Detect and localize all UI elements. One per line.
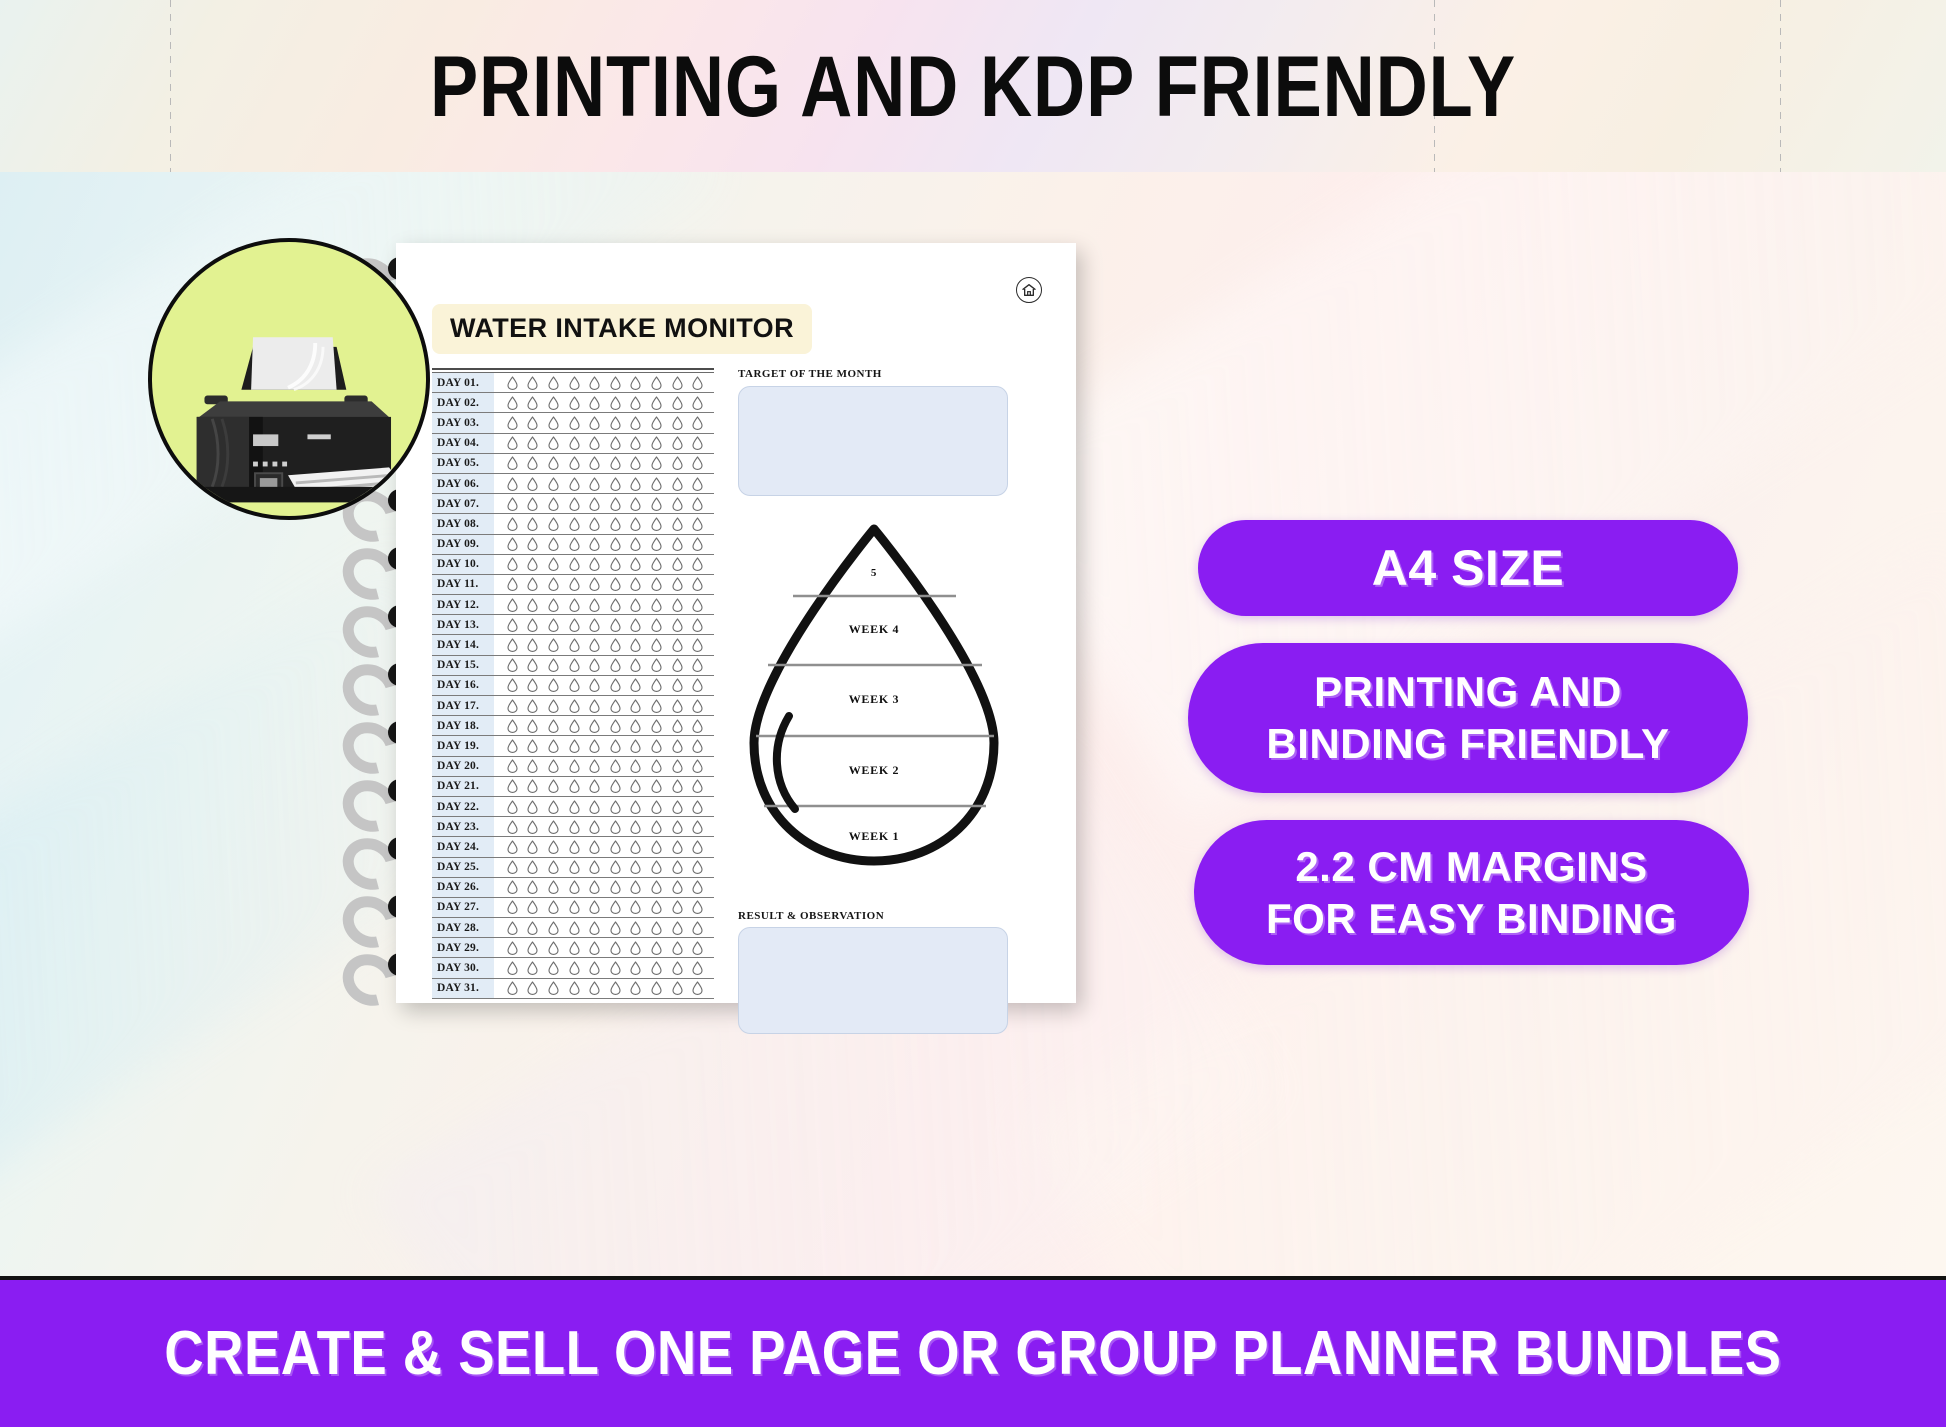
water-drop-checkbox-icon[interactable] (630, 517, 641, 531)
water-drop-checkbox-icon[interactable] (651, 537, 662, 551)
water-drop-checkbox-icon[interactable] (569, 860, 580, 874)
water-drop-checkbox-icon[interactable] (569, 436, 580, 450)
water-drop-checkbox-icon[interactable] (610, 658, 621, 672)
water-drop-checkbox-icon[interactable] (589, 820, 600, 834)
water-drop-checkbox-icon[interactable] (507, 900, 518, 914)
water-drop-checkbox-icon[interactable] (651, 497, 662, 511)
water-drop-checkbox-icon[interactable] (692, 477, 703, 491)
water-drop-checkbox-icon[interactable] (507, 376, 518, 390)
water-drop-checkbox-icon[interactable] (630, 376, 641, 390)
feature-pill-printing-binding[interactable]: PRINTING AND BINDING FRIENDLY (1188, 643, 1748, 793)
water-drop-checkbox-icon[interactable] (527, 456, 538, 470)
water-drop-checkbox-icon[interactable] (672, 880, 683, 894)
water-drop-checkbox-icon[interactable] (589, 436, 600, 450)
water-drop-checkbox-icon[interactable] (589, 477, 600, 491)
water-drop-checkbox-icon[interactable] (692, 921, 703, 935)
water-drop-checkbox-icon[interactable] (527, 921, 538, 935)
water-drop-checkbox-icon[interactable] (692, 800, 703, 814)
water-drop-checkbox-icon[interactable] (651, 618, 662, 632)
water-drop-checkbox-icon[interactable] (692, 739, 703, 753)
water-drop-checkbox-icon[interactable] (548, 376, 559, 390)
water-drop-checkbox-icon[interactable] (651, 678, 662, 692)
water-drop-checkbox-icon[interactable] (569, 759, 580, 773)
water-drop-checkbox-icon[interactable] (630, 840, 641, 854)
water-drop-checkbox-icon[interactable] (569, 557, 580, 571)
water-drop-checkbox-icon[interactable] (569, 800, 580, 814)
water-drop-checkbox-icon[interactable] (527, 618, 538, 632)
water-drop-checkbox-icon[interactable] (527, 376, 538, 390)
water-drop-checkbox-icon[interactable] (507, 396, 518, 410)
water-drop-checkbox-icon[interactable] (548, 678, 559, 692)
water-drop-checkbox-icon[interactable] (589, 800, 600, 814)
water-drop-checkbox-icon[interactable] (548, 921, 559, 935)
water-drop-checkbox-icon[interactable] (630, 678, 641, 692)
water-drop-checkbox-icon[interactable] (630, 880, 641, 894)
water-drop-checkbox-icon[interactable] (672, 719, 683, 733)
water-drop-checkbox-icon[interactable] (527, 436, 538, 450)
water-drop-checkbox-icon[interactable] (672, 497, 683, 511)
water-drop-checkbox-icon[interactable] (672, 416, 683, 430)
water-drop-checkbox-icon[interactable] (527, 880, 538, 894)
water-drop-checkbox-icon[interactable] (692, 376, 703, 390)
water-drop-checkbox-icon[interactable] (507, 517, 518, 531)
water-drop-checkbox-icon[interactable] (589, 900, 600, 914)
water-drop-checkbox-icon[interactable] (610, 719, 621, 733)
water-drop-checkbox-icon[interactable] (651, 598, 662, 612)
water-drop-checkbox-icon[interactable] (527, 820, 538, 834)
water-drop-checkbox-icon[interactable] (672, 800, 683, 814)
water-drop-checkbox-icon[interactable] (610, 981, 621, 995)
water-drop-checkbox-icon[interactable] (651, 456, 662, 470)
water-drop-checkbox-icon[interactable] (527, 739, 538, 753)
water-drop-checkbox-icon[interactable] (569, 396, 580, 410)
water-drop-checkbox-icon[interactable] (527, 719, 538, 733)
water-drop-checkbox-icon[interactable] (610, 477, 621, 491)
water-drop-checkbox-icon[interactable] (589, 779, 600, 793)
water-drop-checkbox-icon[interactable] (548, 517, 559, 531)
water-drop-checkbox-icon[interactable] (692, 860, 703, 874)
water-drop-checkbox-icon[interactable] (569, 497, 580, 511)
water-drop-checkbox-icon[interactable] (630, 820, 641, 834)
water-drop-checkbox-icon[interactable] (569, 719, 580, 733)
water-drop-checkbox-icon[interactable] (630, 638, 641, 652)
water-drop-checkbox-icon[interactable] (507, 598, 518, 612)
water-drop-checkbox-icon[interactable] (589, 880, 600, 894)
water-drop-checkbox-icon[interactable] (672, 779, 683, 793)
water-drop-checkbox-icon[interactable] (630, 658, 641, 672)
water-drop-checkbox-icon[interactable] (672, 537, 683, 551)
water-drop-checkbox-icon[interactable] (527, 961, 538, 975)
water-drop-checkbox-icon[interactable] (610, 577, 621, 591)
water-drop-checkbox-icon[interactable] (630, 981, 641, 995)
water-drop-checkbox-icon[interactable] (692, 900, 703, 914)
water-drop-checkbox-icon[interactable] (692, 456, 703, 470)
water-drop-checkbox-icon[interactable] (548, 779, 559, 793)
water-drop-checkbox-icon[interactable] (630, 557, 641, 571)
water-drop-checkbox-icon[interactable] (569, 618, 580, 632)
water-drop-checkbox-icon[interactable] (548, 759, 559, 773)
water-drop-checkbox-icon[interactable] (672, 900, 683, 914)
water-drop-checkbox-icon[interactable] (589, 699, 600, 713)
water-drop-checkbox-icon[interactable] (507, 779, 518, 793)
water-drop-checkbox-icon[interactable] (610, 598, 621, 612)
water-drop-checkbox-icon[interactable] (610, 416, 621, 430)
water-drop-checkbox-icon[interactable] (589, 598, 600, 612)
water-drop-checkbox-icon[interactable] (527, 497, 538, 511)
water-drop-checkbox-icon[interactable] (692, 961, 703, 975)
water-drop-checkbox-icon[interactable] (569, 598, 580, 612)
water-drop-checkbox-icon[interactable] (589, 497, 600, 511)
water-drop-checkbox-icon[interactable] (569, 477, 580, 491)
water-drop-checkbox-icon[interactable] (610, 921, 621, 935)
water-drop-checkbox-icon[interactable] (589, 840, 600, 854)
water-drop-checkbox-icon[interactable] (507, 880, 518, 894)
water-drop-checkbox-icon[interactable] (651, 477, 662, 491)
water-drop-checkbox-icon[interactable] (569, 840, 580, 854)
water-drop-checkbox-icon[interactable] (672, 921, 683, 935)
target-of-month-input[interactable] (738, 386, 1008, 496)
water-drop-checkbox-icon[interactable] (507, 638, 518, 652)
water-drop-checkbox-icon[interactable] (507, 820, 518, 834)
water-drop-checkbox-icon[interactable] (610, 618, 621, 632)
water-drop-checkbox-icon[interactable] (569, 880, 580, 894)
water-drop-checkbox-icon[interactable] (692, 416, 703, 430)
water-drop-checkbox-icon[interactable] (692, 759, 703, 773)
home-icon[interactable] (1016, 277, 1042, 303)
water-drop-checkbox-icon[interactable] (527, 941, 538, 955)
water-drop-checkbox-icon[interactable] (589, 759, 600, 773)
water-drop-checkbox-icon[interactable] (610, 900, 621, 914)
water-drop-checkbox-icon[interactable] (651, 658, 662, 672)
water-drop-checkbox-icon[interactable] (548, 537, 559, 551)
water-drop-checkbox-icon[interactable] (672, 598, 683, 612)
water-drop-checkbox-icon[interactable] (630, 577, 641, 591)
water-drop-checkbox-icon[interactable] (651, 941, 662, 955)
water-drop-checkbox-icon[interactable] (589, 981, 600, 995)
water-drop-checkbox-icon[interactable] (630, 497, 641, 511)
water-drop-checkbox-icon[interactable] (630, 598, 641, 612)
water-drop-checkbox-icon[interactable] (610, 537, 621, 551)
water-drop-checkbox-icon[interactable] (589, 456, 600, 470)
water-drop-checkbox-icon[interactable] (548, 739, 559, 753)
water-drop-checkbox-icon[interactable] (527, 477, 538, 491)
water-drop-checkbox-icon[interactable] (610, 638, 621, 652)
water-drop-checkbox-icon[interactable] (610, 396, 621, 410)
water-drop-checkbox-icon[interactable] (589, 396, 600, 410)
water-drop-checkbox-icon[interactable] (527, 577, 538, 591)
water-drop-checkbox-icon[interactable] (507, 981, 518, 995)
water-drop-checkbox-icon[interactable] (507, 436, 518, 450)
water-drop-checkbox-icon[interactable] (548, 598, 559, 612)
water-drop-checkbox-icon[interactable] (692, 618, 703, 632)
water-drop-checkbox-icon[interactable] (610, 860, 621, 874)
water-drop-checkbox-icon[interactable] (548, 880, 559, 894)
water-drop-checkbox-icon[interactable] (548, 396, 559, 410)
water-drop-checkbox-icon[interactable] (527, 699, 538, 713)
water-drop-checkbox-icon[interactable] (527, 981, 538, 995)
water-drop-checkbox-icon[interactable] (527, 416, 538, 430)
water-drop-checkbox-icon[interactable] (527, 517, 538, 531)
water-drop-checkbox-icon[interactable] (651, 759, 662, 773)
water-drop-checkbox-icon[interactable] (610, 557, 621, 571)
water-drop-checkbox-icon[interactable] (610, 880, 621, 894)
water-drop-checkbox-icon[interactable] (507, 739, 518, 753)
water-drop-checkbox-icon[interactable] (589, 658, 600, 672)
water-drop-checkbox-icon[interactable] (507, 860, 518, 874)
water-drop-checkbox-icon[interactable] (692, 577, 703, 591)
water-drop-checkbox-icon[interactable] (672, 739, 683, 753)
water-drop-checkbox-icon[interactable] (672, 759, 683, 773)
water-drop-checkbox-icon[interactable] (672, 477, 683, 491)
water-drop-checkbox-icon[interactable] (651, 557, 662, 571)
water-drop-checkbox-icon[interactable] (692, 880, 703, 894)
water-drop-checkbox-icon[interactable] (507, 577, 518, 591)
water-drop-checkbox-icon[interactable] (610, 820, 621, 834)
water-drop-checkbox-icon[interactable] (589, 921, 600, 935)
water-drop-checkbox-icon[interactable] (630, 800, 641, 814)
water-drop-checkbox-icon[interactable] (651, 921, 662, 935)
water-drop-checkbox-icon[interactable] (651, 779, 662, 793)
water-drop-checkbox-icon[interactable] (672, 577, 683, 591)
water-drop-checkbox-icon[interactable] (548, 699, 559, 713)
water-drop-checkbox-icon[interactable] (548, 658, 559, 672)
water-drop-checkbox-icon[interactable] (630, 618, 641, 632)
water-drop-checkbox-icon[interactable] (507, 618, 518, 632)
water-drop-checkbox-icon[interactable] (672, 376, 683, 390)
water-drop-checkbox-icon[interactable] (692, 537, 703, 551)
water-drop-checkbox-icon[interactable] (507, 678, 518, 692)
water-drop-checkbox-icon[interactable] (527, 779, 538, 793)
water-drop-checkbox-icon[interactable] (507, 921, 518, 935)
water-drop-checkbox-icon[interactable] (569, 376, 580, 390)
water-drop-checkbox-icon[interactable] (527, 900, 538, 914)
water-drop-checkbox-icon[interactable] (651, 820, 662, 834)
water-drop-checkbox-icon[interactable] (527, 557, 538, 571)
water-drop-checkbox-icon[interactable] (651, 961, 662, 975)
water-drop-checkbox-icon[interactable] (692, 981, 703, 995)
water-drop-checkbox-icon[interactable] (507, 800, 518, 814)
water-drop-checkbox-icon[interactable] (692, 941, 703, 955)
water-drop-checkbox-icon[interactable] (692, 396, 703, 410)
water-drop-checkbox-icon[interactable] (548, 497, 559, 511)
water-drop-checkbox-icon[interactable] (651, 719, 662, 733)
water-drop-checkbox-icon[interactable] (610, 840, 621, 854)
water-drop-checkbox-icon[interactable] (651, 577, 662, 591)
result-observation-input[interactable] (738, 927, 1008, 1034)
water-drop-checkbox-icon[interactable] (527, 396, 538, 410)
feature-pill-margins[interactable]: 2.2 CM MARGINS FOR EASY BINDING (1194, 820, 1749, 965)
water-drop-checkbox-icon[interactable] (507, 497, 518, 511)
water-drop-checkbox-icon[interactable] (610, 739, 621, 753)
water-drop-checkbox-icon[interactable] (692, 779, 703, 793)
water-drop-checkbox-icon[interactable] (589, 941, 600, 955)
water-drop-checkbox-icon[interactable] (630, 396, 641, 410)
water-drop-checkbox-icon[interactable] (651, 880, 662, 894)
water-drop-checkbox-icon[interactable] (672, 941, 683, 955)
water-drop-checkbox-icon[interactable] (589, 618, 600, 632)
water-drop-checkbox-icon[interactable] (548, 860, 559, 874)
water-drop-checkbox-icon[interactable] (610, 376, 621, 390)
water-drop-checkbox-icon[interactable] (589, 537, 600, 551)
water-drop-checkbox-icon[interactable] (569, 921, 580, 935)
water-drop-checkbox-icon[interactable] (630, 759, 641, 773)
water-drop-checkbox-icon[interactable] (507, 719, 518, 733)
water-drop-checkbox-icon[interactable] (692, 557, 703, 571)
water-drop-checkbox-icon[interactable] (589, 557, 600, 571)
water-drop-checkbox-icon[interactable] (569, 638, 580, 652)
water-drop-checkbox-icon[interactable] (610, 517, 621, 531)
water-drop-checkbox-icon[interactable] (548, 477, 559, 491)
water-drop-checkbox-icon[interactable] (548, 436, 559, 450)
water-drop-checkbox-icon[interactable] (589, 416, 600, 430)
water-drop-checkbox-icon[interactable] (527, 840, 538, 854)
water-drop-checkbox-icon[interactable] (630, 456, 641, 470)
water-drop-checkbox-icon[interactable] (548, 820, 559, 834)
water-drop-checkbox-icon[interactable] (548, 416, 559, 430)
water-drop-checkbox-icon[interactable] (589, 739, 600, 753)
water-drop-checkbox-icon[interactable] (569, 416, 580, 430)
water-drop-checkbox-icon[interactable] (507, 961, 518, 975)
water-drop-checkbox-icon[interactable] (569, 537, 580, 551)
water-drop-checkbox-icon[interactable] (589, 860, 600, 874)
water-drop-checkbox-icon[interactable] (672, 699, 683, 713)
water-drop-checkbox-icon[interactable] (548, 800, 559, 814)
water-drop-checkbox-icon[interactable] (651, 376, 662, 390)
water-drop-checkbox-icon[interactable] (630, 961, 641, 975)
water-drop-checkbox-icon[interactable] (610, 961, 621, 975)
water-drop-checkbox-icon[interactable] (548, 941, 559, 955)
water-drop-checkbox-icon[interactable] (692, 638, 703, 652)
water-drop-checkbox-icon[interactable] (651, 900, 662, 914)
water-drop-checkbox-icon[interactable] (672, 981, 683, 995)
water-drop-checkbox-icon[interactable] (569, 577, 580, 591)
water-drop-checkbox-icon[interactable] (630, 436, 641, 450)
water-drop-checkbox-icon[interactable] (672, 396, 683, 410)
water-drop-checkbox-icon[interactable] (630, 739, 641, 753)
water-drop-checkbox-icon[interactable] (610, 699, 621, 713)
water-drop-checkbox-icon[interactable] (610, 779, 621, 793)
water-drop-checkbox-icon[interactable] (672, 820, 683, 834)
water-drop-checkbox-icon[interactable] (692, 517, 703, 531)
water-drop-checkbox-icon[interactable] (569, 900, 580, 914)
water-drop-checkbox-icon[interactable] (507, 759, 518, 773)
water-drop-checkbox-icon[interactable] (548, 961, 559, 975)
water-drop-checkbox-icon[interactable] (610, 456, 621, 470)
water-drop-checkbox-icon[interactable] (672, 436, 683, 450)
water-drop-checkbox-icon[interactable] (630, 537, 641, 551)
water-drop-checkbox-icon[interactable] (651, 416, 662, 430)
water-drop-checkbox-icon[interactable] (589, 961, 600, 975)
water-drop-checkbox-icon[interactable] (672, 517, 683, 531)
water-drop-checkbox-icon[interactable] (527, 860, 538, 874)
water-drop-checkbox-icon[interactable] (672, 658, 683, 672)
water-drop-checkbox-icon[interactable] (692, 699, 703, 713)
water-drop-checkbox-icon[interactable] (527, 678, 538, 692)
water-drop-checkbox-icon[interactable] (569, 699, 580, 713)
water-drop-checkbox-icon[interactable] (527, 759, 538, 773)
water-drop-checkbox-icon[interactable] (569, 981, 580, 995)
water-drop-checkbox-icon[interactable] (630, 941, 641, 955)
water-drop-checkbox-icon[interactable] (569, 658, 580, 672)
water-drop-checkbox-icon[interactable] (672, 840, 683, 854)
water-drop-checkbox-icon[interactable] (672, 860, 683, 874)
water-drop-checkbox-icon[interactable] (548, 456, 559, 470)
water-drop-checkbox-icon[interactable] (548, 577, 559, 591)
water-drop-checkbox-icon[interactable] (507, 840, 518, 854)
water-drop-checkbox-icon[interactable] (630, 416, 641, 430)
water-drop-checkbox-icon[interactable] (507, 416, 518, 430)
water-drop-checkbox-icon[interactable] (692, 678, 703, 692)
feature-pill-a4-size[interactable]: A4 SIZE (1198, 520, 1738, 616)
water-drop-checkbox-icon[interactable] (548, 638, 559, 652)
water-drop-checkbox-icon[interactable] (527, 537, 538, 551)
water-drop-checkbox-icon[interactable] (527, 658, 538, 672)
water-drop-checkbox-icon[interactable] (651, 638, 662, 652)
water-drop-checkbox-icon[interactable] (651, 840, 662, 854)
water-drop-checkbox-icon[interactable] (610, 678, 621, 692)
water-drop-checkbox-icon[interactable] (630, 719, 641, 733)
water-drop-checkbox-icon[interactable] (672, 557, 683, 571)
water-drop-checkbox-icon[interactable] (507, 557, 518, 571)
water-drop-checkbox-icon[interactable] (589, 719, 600, 733)
water-drop-checkbox-icon[interactable] (507, 658, 518, 672)
water-drop-checkbox-icon[interactable] (672, 638, 683, 652)
water-drop-checkbox-icon[interactable] (507, 537, 518, 551)
water-drop-checkbox-icon[interactable] (672, 456, 683, 470)
water-drop-checkbox-icon[interactable] (610, 800, 621, 814)
water-drop-checkbox-icon[interactable] (548, 618, 559, 632)
water-drop-checkbox-icon[interactable] (548, 900, 559, 914)
water-drop-checkbox-icon[interactable] (651, 517, 662, 531)
water-drop-checkbox-icon[interactable] (569, 456, 580, 470)
water-drop-checkbox-icon[interactable] (569, 820, 580, 834)
water-drop-checkbox-icon[interactable] (589, 376, 600, 390)
water-drop-checkbox-icon[interactable] (569, 961, 580, 975)
water-drop-checkbox-icon[interactable] (651, 981, 662, 995)
water-drop-checkbox-icon[interactable] (569, 517, 580, 531)
water-drop-checkbox-icon[interactable] (569, 779, 580, 793)
water-drop-checkbox-icon[interactable] (589, 638, 600, 652)
water-drop-checkbox-icon[interactable] (630, 900, 641, 914)
water-drop-checkbox-icon[interactable] (527, 638, 538, 652)
water-drop-checkbox-icon[interactable] (610, 759, 621, 773)
water-drop-checkbox-icon[interactable] (548, 719, 559, 733)
water-drop-checkbox-icon[interactable] (548, 981, 559, 995)
water-drop-checkbox-icon[interactable] (589, 577, 600, 591)
water-drop-checkbox-icon[interactable] (569, 678, 580, 692)
water-drop-checkbox-icon[interactable] (610, 436, 621, 450)
water-drop-checkbox-icon[interactable] (651, 699, 662, 713)
water-drop-checkbox-icon[interactable] (610, 497, 621, 511)
water-drop-checkbox-icon[interactable] (507, 699, 518, 713)
water-drop-checkbox-icon[interactable] (651, 436, 662, 450)
water-drop-checkbox-icon[interactable] (507, 941, 518, 955)
water-drop-checkbox-icon[interactable] (589, 678, 600, 692)
water-drop-checkbox-icon[interactable] (651, 800, 662, 814)
water-drop-checkbox-icon[interactable] (692, 497, 703, 511)
water-drop-checkbox-icon[interactable] (507, 456, 518, 470)
water-drop-checkbox-icon[interactable] (630, 779, 641, 793)
water-drop-checkbox-icon[interactable] (569, 941, 580, 955)
water-drop-checkbox-icon[interactable] (610, 941, 621, 955)
water-drop-checkbox-icon[interactable] (527, 800, 538, 814)
water-drop-checkbox-icon[interactable] (630, 860, 641, 874)
water-drop-checkbox-icon[interactable] (692, 598, 703, 612)
water-drop-checkbox-icon[interactable] (548, 557, 559, 571)
water-drop-checkbox-icon[interactable] (672, 618, 683, 632)
water-drop-checkbox-icon[interactable] (589, 517, 600, 531)
water-drop-checkbox-icon[interactable] (692, 436, 703, 450)
